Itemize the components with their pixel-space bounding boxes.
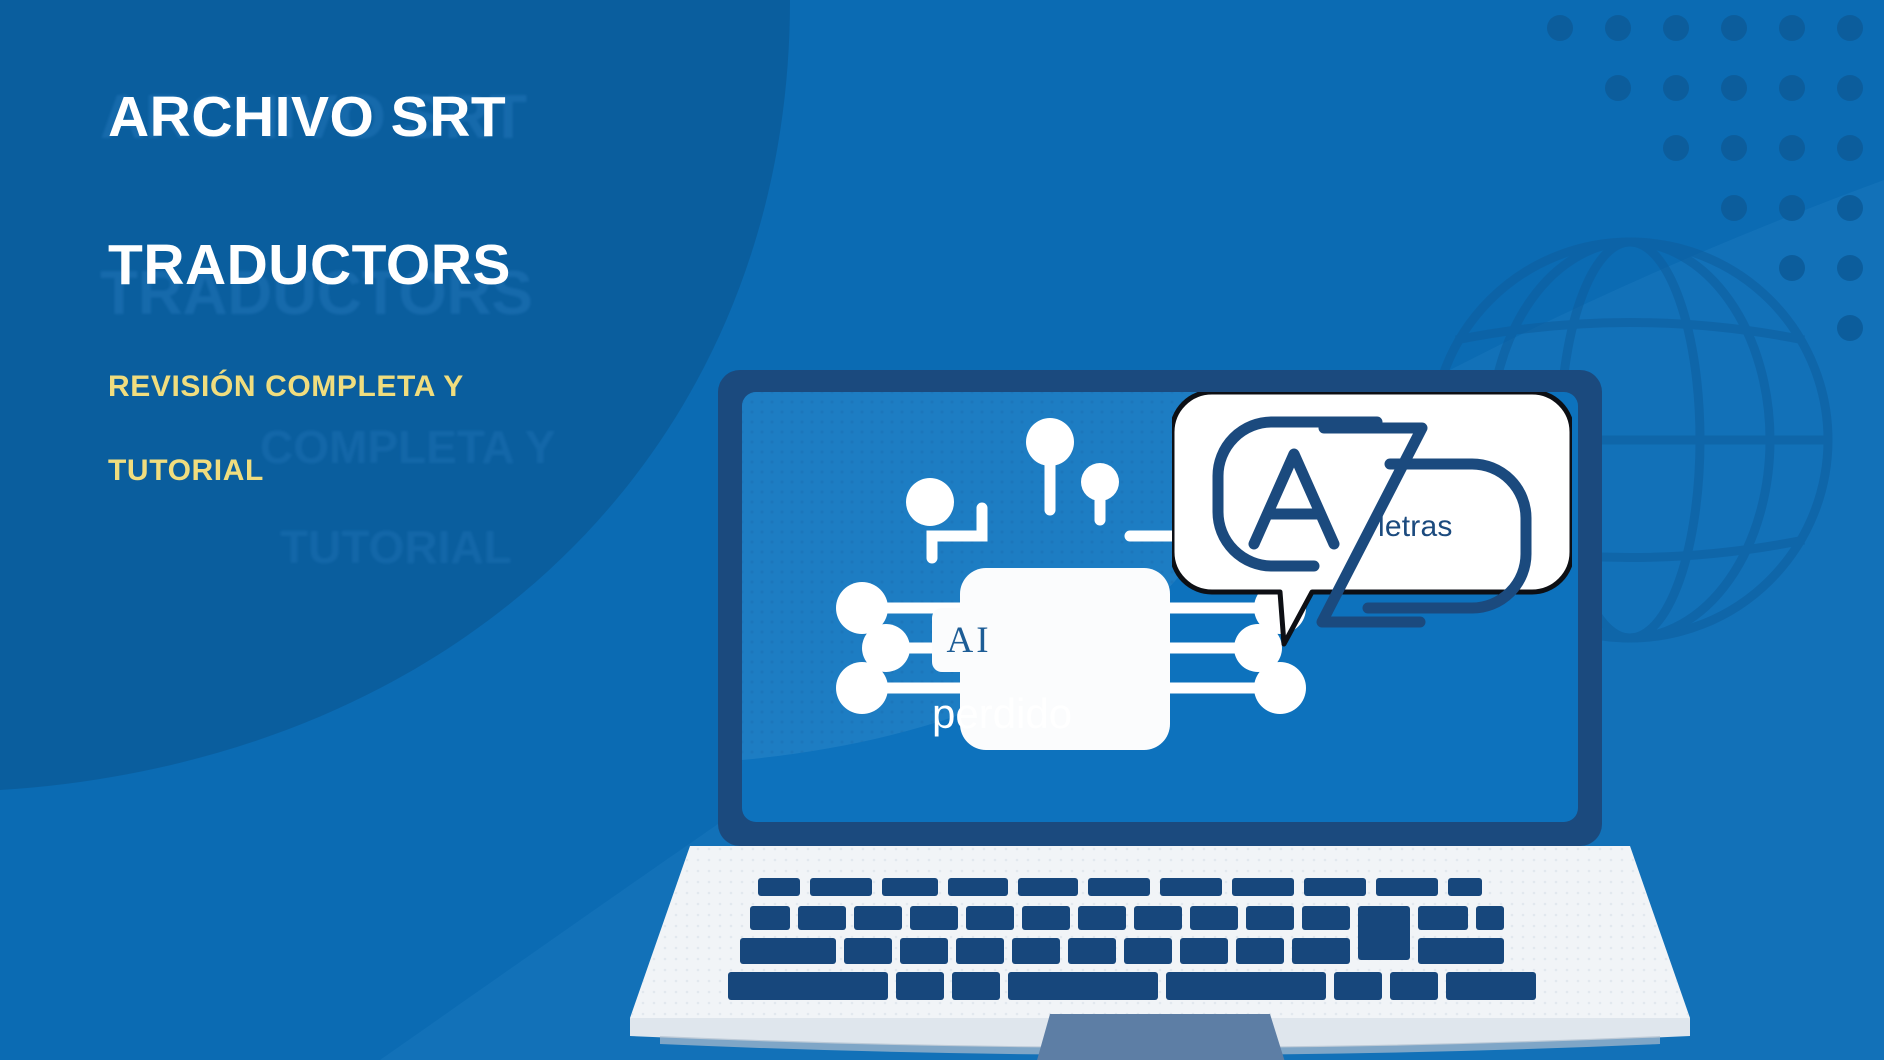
title-line-1: ARCHIVO SRT	[108, 88, 828, 146]
ai-chip-label: AI	[946, 622, 991, 659]
screen-caption: perdido	[932, 690, 1006, 738]
logo-speech-bubble: letras	[1172, 392, 1572, 664]
logo-bubble-svg	[1172, 392, 1572, 664]
subtitle-line-2: TUTORIAL	[108, 454, 828, 488]
headline-block: ARCHIVO SRT TRADUCTORS REVISIÓN COMPLETA…	[108, 88, 828, 488]
title-line-2: TRADUCTORS	[108, 236, 828, 294]
trackpad	[1032, 1014, 1290, 1060]
logo-wordmark: letras	[1378, 510, 1453, 544]
ai-chip-label-box: AI	[932, 608, 1006, 672]
keyboard-row	[728, 972, 1536, 1000]
banner-stage: ARCHIVO SRT TRADUCTORS COMPLETA Y TUTORI…	[0, 0, 1884, 1060]
subtitle-line-1: REVISIÓN COMPLETA Y	[108, 370, 828, 404]
